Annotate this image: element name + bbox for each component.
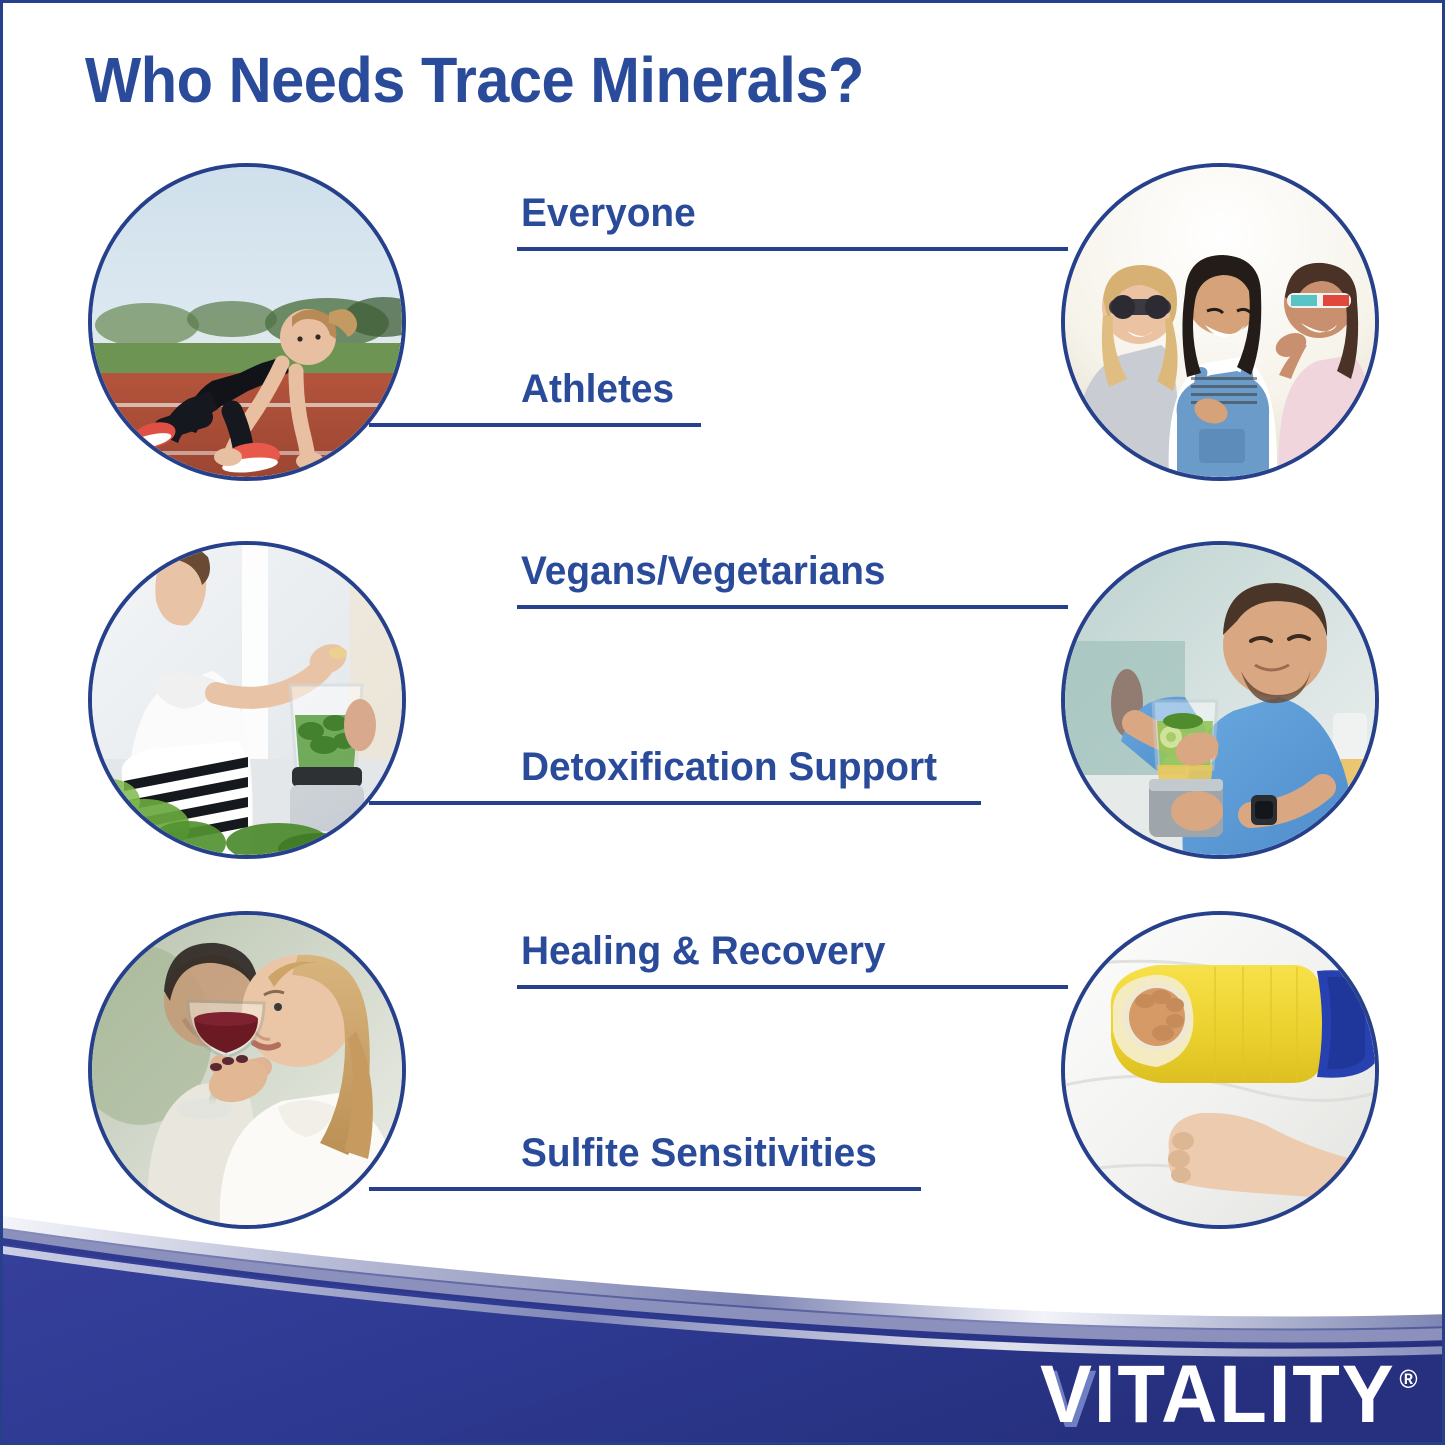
wine-tasting-illustration xyxy=(92,915,402,1225)
registered-trademark-icon: ® xyxy=(1400,1366,1420,1392)
connector-rule-vegans-vegetarians xyxy=(517,605,1068,609)
infographic-page: Who Needs Trace Minerals? xyxy=(0,0,1445,1445)
woman-blender-illustration xyxy=(92,545,402,855)
label-everyone: Everyone xyxy=(521,193,696,233)
label-vegans-vegetarians: Vegans/Vegetarians xyxy=(521,551,885,591)
friends-illustration xyxy=(1065,167,1375,477)
runner-illustration xyxy=(92,167,402,477)
brand-v-mark: V V xyxy=(1040,1354,1094,1436)
footer-banner: V V ITALITY ® xyxy=(3,1202,1445,1442)
brand-wordmark: ITALITY xyxy=(1094,1354,1396,1436)
photo-leg-cast xyxy=(1065,915,1375,1225)
leg-cast-illustration xyxy=(1065,915,1375,1225)
photo-circle-man-green-smoothie xyxy=(1061,541,1379,859)
connector-rule-sulfite-sensitivities xyxy=(369,1187,921,1191)
brand-logo: V V ITALITY ® xyxy=(1040,1354,1420,1436)
connector-rule-everyone xyxy=(517,247,1068,251)
label-detoxification-support: Detoxification Support xyxy=(521,747,937,787)
label-sulfite-sensitivities: Sulfite Sensitivities xyxy=(521,1133,877,1173)
photo-circle-woman-blender xyxy=(88,541,406,859)
photo-man-green-smoothie xyxy=(1065,545,1375,855)
connector-rule-healing-recovery xyxy=(517,985,1068,989)
photo-wine-tasting xyxy=(92,915,402,1225)
label-athletes: Athletes xyxy=(521,369,674,409)
label-healing-recovery: Healing & Recovery xyxy=(521,931,885,971)
photo-circle-female-runner xyxy=(88,163,406,481)
brand-v-letter: V xyxy=(1040,1349,1094,1440)
connector-rule-detoxification-support xyxy=(369,801,981,805)
photo-circle-wine-tasting xyxy=(88,911,406,1229)
photo-female-runner xyxy=(92,167,402,477)
photo-friends-group xyxy=(1065,167,1375,477)
connector-rule-athletes xyxy=(369,423,701,427)
page-title: Who Needs Trace Minerals? xyxy=(85,47,864,114)
man-smoothie-illustration xyxy=(1065,545,1375,855)
photo-woman-blender xyxy=(92,545,402,855)
photo-circle-leg-cast xyxy=(1061,911,1379,1229)
photo-circle-friends-group xyxy=(1061,163,1379,481)
